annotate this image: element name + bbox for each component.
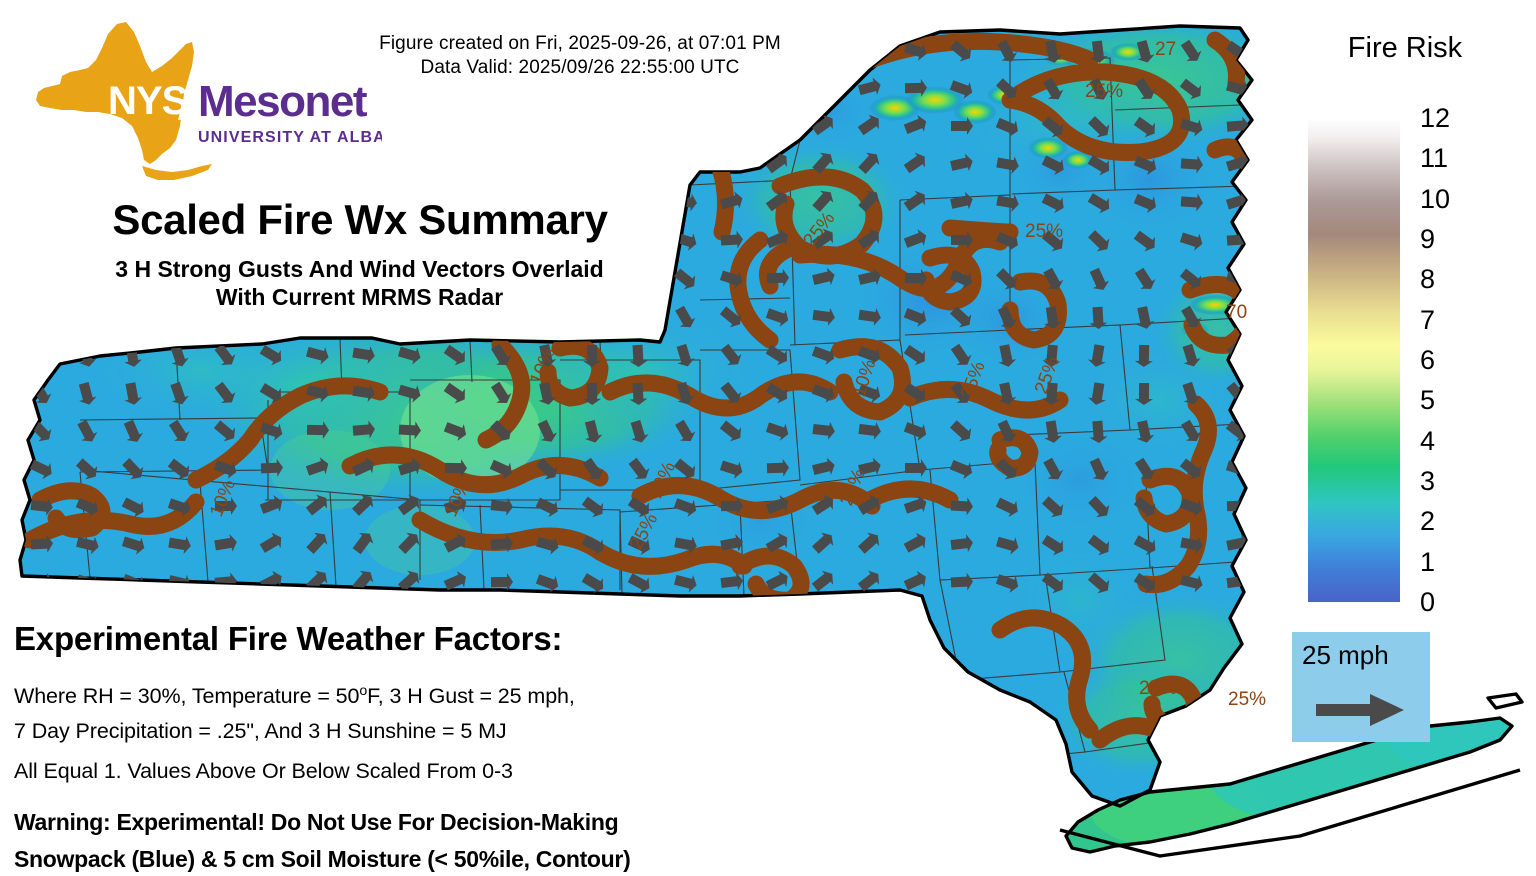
data-valid-line: Data Valid: 2025/09/26 22:55:00 UTC <box>300 56 860 80</box>
page-subtitle: 3 H Strong Gusts And Wind Vectors Overla… <box>32 255 687 311</box>
colorbar-tick-9: 9 <box>1420 226 1435 253</box>
factors-heading: Experimental Fire Weather Factors: <box>14 620 562 658</box>
wind-vector-arrow <box>534 114 561 139</box>
wind-vector-arrow <box>580 114 608 141</box>
wind-vector-arrow <box>674 154 697 174</box>
wind-vector-arrow <box>442 113 469 138</box>
colorbar-tick-3: 3 <box>1420 468 1435 495</box>
warning-line-1: Warning: Experimental! Do Not Use For De… <box>14 808 618 836</box>
logo-university-text: UNIVERSITY AT ALBANY <box>198 129 382 146</box>
colorbar-tick-7: 7 <box>1420 307 1435 334</box>
factor-line-1: Where RH = 30%, Temperature = 50oF, 3 H … <box>14 678 575 709</box>
fire-risk-colorbar <box>1308 118 1400 602</box>
factor-line-1a: Where RH = 30%, Temperature = 50 <box>14 684 359 708</box>
colorbar-tick-5: 5 <box>1420 387 1435 414</box>
figure-timestamp-block: Figure created on Fri, 2025-09-26, at 07… <box>300 32 860 80</box>
contour-label: 25% <box>1228 689 1266 710</box>
wind-vector-arrow <box>766 78 789 97</box>
factor-line-2: 7 Day Precipitation = .25", And 3 H Suns… <box>14 718 507 744</box>
colorbar-tick-11: 11 <box>1420 145 1448 172</box>
wind-vector-arrow <box>720 116 743 135</box>
wind-vector-arrow <box>491 117 514 136</box>
warning-line-2: Snowpack (Blue) & 5 cm Soil Moisture (< … <box>14 845 630 873</box>
colorbar-tick-4: 4 <box>1420 428 1435 455</box>
wind-vector-arrow <box>536 154 561 176</box>
wind-legend-label: 25 mph <box>1302 640 1389 671</box>
contour-label: 25% <box>1139 678 1177 699</box>
wind-vector-arrow <box>719 77 745 100</box>
colorbar-tick-8: 8 <box>1420 266 1435 293</box>
logo-mesonet-text: Mesonet <box>198 77 368 126</box>
contour-label: 25% <box>1025 221 1063 242</box>
subtitle-line-1: 3 H Strong Gusts And Wind Vectors Overla… <box>32 255 687 283</box>
wind-vector-arrow <box>395 111 423 139</box>
wind-vector-arrow <box>445 79 467 97</box>
wind-vector-arrow <box>580 152 607 177</box>
wind-legend-arrow-icon <box>1312 690 1412 735</box>
wind-vector-arrow <box>764 113 791 138</box>
colorbar-title: Fire Risk <box>1290 32 1520 65</box>
colorbar-tick-1: 1 <box>1420 549 1435 576</box>
contour-label: 25% <box>1085 81 1123 102</box>
colorbar-tick-12: 12 <box>1420 105 1450 132</box>
wind-vector-arrow <box>395 148 423 176</box>
long-island-silhouette <box>142 164 212 180</box>
contour-label: 70 <box>1226 302 1247 323</box>
colorbar-tick-6: 6 <box>1420 347 1435 374</box>
factor-line-1b: F, 3 H Gust = 25 mph, <box>367 684 575 708</box>
colorbar-tick-2: 2 <box>1420 508 1435 535</box>
wind-vector-arrow <box>858 40 881 60</box>
factor-line-3: All Equal 1. Values Above Or Below Scale… <box>14 758 513 784</box>
wind-vector-arrow <box>490 153 515 175</box>
wind-vector-arrow <box>673 115 699 139</box>
colorbar-tick-10: 10 <box>1420 186 1450 213</box>
wind-vector-arrow <box>626 114 654 141</box>
degree-symbol: o <box>359 683 367 699</box>
wind-vector-arrow <box>627 153 654 177</box>
colorbar-tick-0: 0 <box>1420 589 1435 616</box>
logo-nys-text: NYS <box>108 79 188 123</box>
subtitle-line-2: With Current MRMS Radar <box>32 283 687 311</box>
contour-label: 27 <box>1155 39 1176 60</box>
figure-created-line: Figure created on Fri, 2025-09-26, at 07… <box>300 32 860 56</box>
wind-vector-arrow <box>442 149 470 176</box>
page-title: Scaled Fire Wx Summary <box>40 196 680 244</box>
wind-vector-arrow <box>28 342 55 370</box>
